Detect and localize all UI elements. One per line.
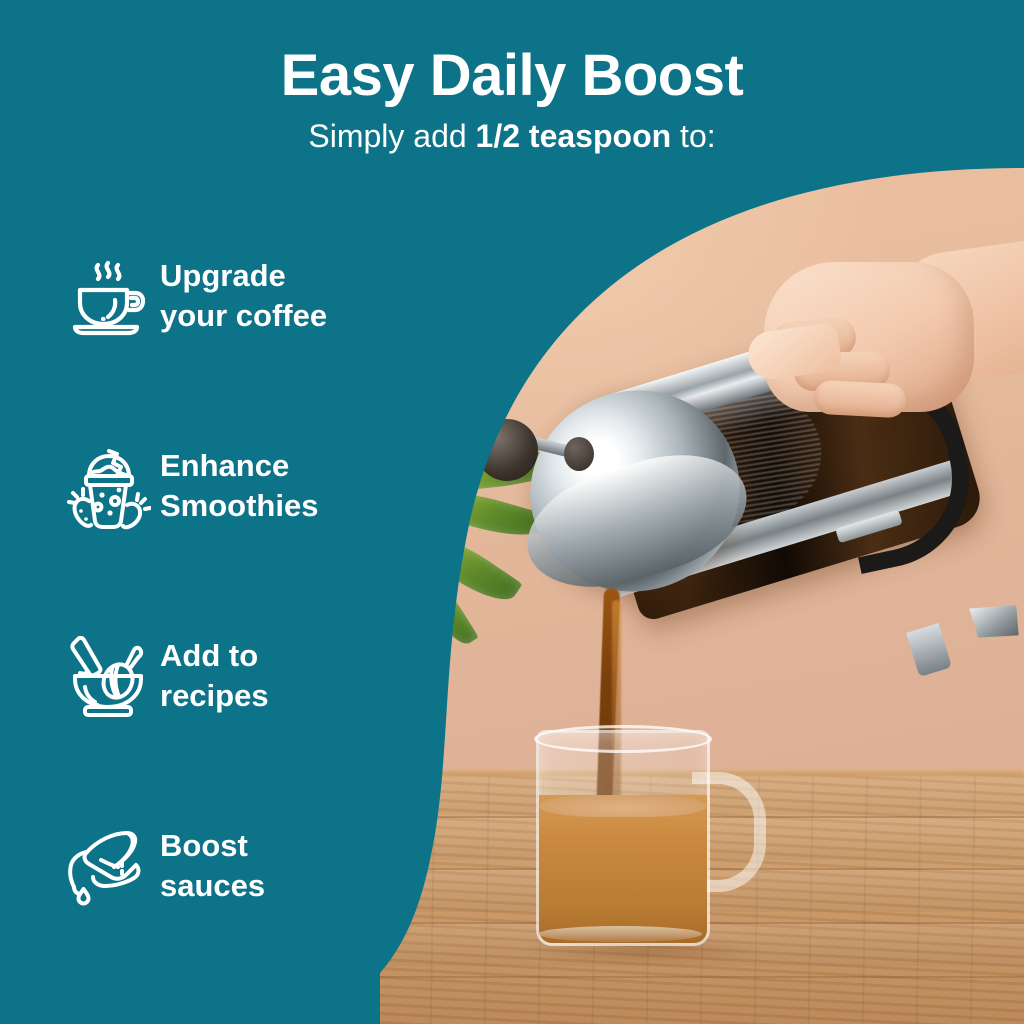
benefit-item-upgrade-coffee: Upgrade your coffee [56, 248, 456, 438]
glass-mug [536, 730, 746, 960]
subtitle-dosage: 1/2 teaspoon [476, 118, 672, 154]
mug-rim [534, 725, 712, 753]
benefit-item-add-to-recipes: Add to recipes [56, 628, 456, 818]
mug-body [536, 730, 710, 946]
page-title: Easy Daily Boost [0, 46, 1024, 107]
page-subtitle: Simply add 1/2 teaspoon to: [0, 117, 1024, 155]
promo-poster: Easy Daily Boost Simply add 1/2 teaspoon… [0, 0, 1024, 1024]
press-plunger-knob [476, 419, 538, 481]
benefit-label: Boost sauces [160, 818, 265, 905]
subtitle-suffix: to: [671, 118, 715, 154]
benefits-list: Upgrade your coffee [56, 248, 456, 1008]
benefit-item-boost-sauces: Boost sauces [56, 818, 456, 1008]
benefit-label: Add to recipes [160, 628, 269, 715]
benefit-item-enhance-smoothies: Enhance Smoothies [56, 438, 456, 628]
hand [742, 246, 1024, 476]
press-spout [969, 595, 1024, 647]
benefit-label: Upgrade your coffee [160, 248, 327, 335]
subtitle-prefix: Simply add [308, 118, 475, 154]
header: Easy Daily Boost Simply add 1/2 teaspoon… [0, 46, 1024, 155]
coffee-liquid [539, 795, 707, 943]
coffee-cup-icon [56, 248, 160, 348]
mixing-bowl-icon [56, 628, 160, 728]
benefit-label: Enhance Smoothies [160, 438, 318, 525]
gravy-boat-icon [56, 818, 160, 918]
smoothie-cup-icon [56, 438, 160, 538]
